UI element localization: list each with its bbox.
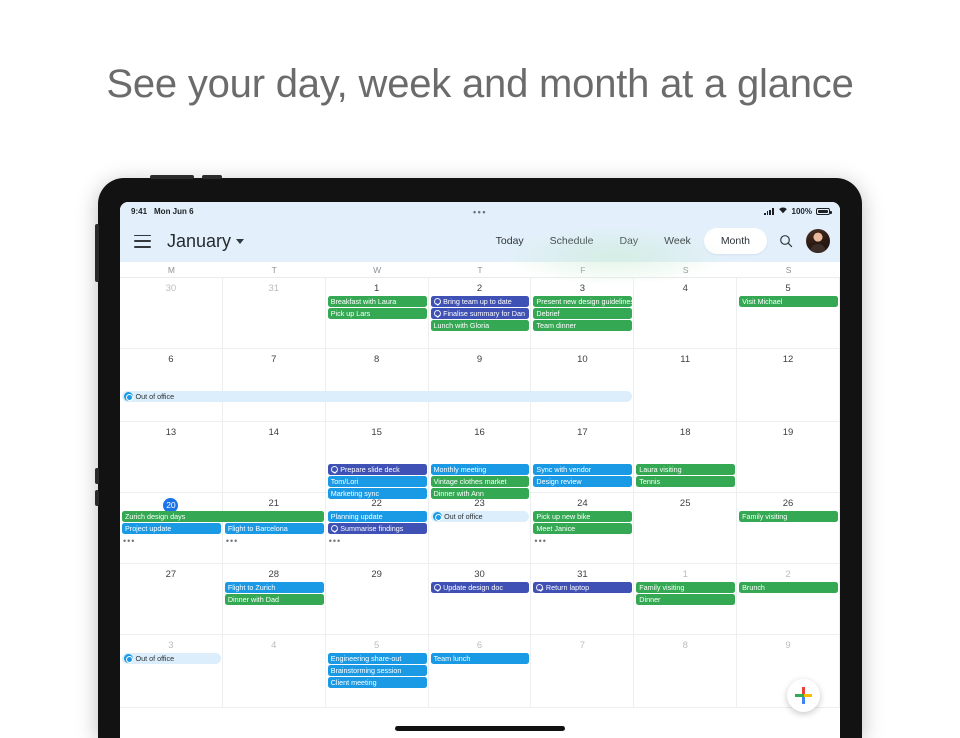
device-top-button <box>150 175 194 179</box>
event-title: Team lunch <box>434 653 471 664</box>
event-title: Brunch <box>742 582 765 593</box>
day-number: 4 <box>634 278 736 295</box>
search-icon[interactable] <box>773 228 799 254</box>
calendar-event[interactable]: Vintage clothes market <box>431 476 530 487</box>
month-title[interactable]: January <box>167 231 244 252</box>
calendar-event[interactable]: Flight to Barcelona <box>225 523 324 534</box>
calendar-day-cell[interactable]: 7 <box>223 349 326 421</box>
calendar-day-cell[interactable]: 30 <box>120 278 223 348</box>
event-title: Pick up new bike <box>536 511 590 522</box>
day-number: 7 <box>223 349 325 366</box>
calendar-day-cell[interactable]: 8 <box>326 349 429 421</box>
day-number: 24 <box>531 493 633 510</box>
day-number: 14 <box>223 422 325 439</box>
calendar-event[interactable]: Flight to Zurich <box>225 582 324 593</box>
view-switcher: TodayScheduleDayWeekMonth <box>483 228 767 254</box>
day-number: 3 <box>120 635 222 652</box>
calendar-day-cell[interactable]: 13 <box>120 422 223 492</box>
day-number: 1 <box>634 564 736 581</box>
task-check-icon <box>331 466 338 473</box>
battery-icon <box>816 208 830 215</box>
view-tab-day[interactable]: Day <box>606 229 651 253</box>
event-title: Visit Michael <box>742 296 782 307</box>
event-title: Out of office <box>444 511 483 522</box>
calendar-event[interactable]: Team dinner <box>533 320 632 331</box>
day-number: 9 <box>737 635 839 652</box>
calendar-event[interactable]: Brainstorming session <box>328 665 427 676</box>
calendar-event[interactable]: Out of office <box>122 653 221 664</box>
page-title: See your day, week and month at a glance <box>0 62 960 107</box>
view-tab-today[interactable]: Today <box>483 229 537 253</box>
calendar-event[interactable]: Project update <box>122 523 221 534</box>
event-title: Return laptop <box>546 582 589 593</box>
day-number: 28 <box>223 564 325 581</box>
calendar-event[interactable]: Out of office <box>431 511 530 522</box>
day-number: 11 <box>634 349 736 366</box>
plus-icon-horizontal <box>795 694 812 697</box>
event-title: Pick up Lars <box>331 308 371 319</box>
calendar-day-cell[interactable]: 5 <box>737 278 840 348</box>
calendar-event[interactable]: Client meeting <box>328 677 427 688</box>
day-number: 13 <box>120 422 222 439</box>
camera-dots-icon: ••• <box>473 207 487 217</box>
weekday-header-3: T <box>429 262 532 278</box>
event-title: Planning update <box>331 511 383 522</box>
battery-percent: 100% <box>792 207 812 216</box>
event-title: Bring team up to date <box>443 296 512 307</box>
calendar-event[interactable]: Prepare slide deck <box>328 464 427 475</box>
calendar-day-cell[interactable]: 25 <box>634 493 737 563</box>
event-title: Vintage clothes market <box>434 476 507 487</box>
calendar-day-cell[interactable]: 29 <box>326 564 429 634</box>
weekday-header-4: F <box>531 262 634 278</box>
event-title: Lunch with Gloria <box>434 320 490 331</box>
avatar[interactable] <box>806 229 830 253</box>
device-volume-button <box>95 224 99 282</box>
event-title: Monthly meeting <box>434 464 487 475</box>
event-title: Flight to Zurich <box>228 582 276 593</box>
day-number: 23 <box>429 493 531 510</box>
home-indicator <box>395 726 565 731</box>
day-number: 21 <box>223 493 325 510</box>
day-number: 5 <box>737 278 839 295</box>
day-number: 26 <box>737 493 839 510</box>
day-number: 6 <box>120 349 222 366</box>
calendar-day-cell[interactable]: 14 <box>223 422 326 492</box>
day-number: 27 <box>120 564 222 581</box>
calendar-event[interactable]: Monthly meeting <box>431 464 530 475</box>
calendar-day-cell[interactable]: 12 <box>737 349 840 421</box>
calendar-event[interactable]: Family visiting <box>739 511 838 522</box>
day-number: 31 <box>223 278 325 295</box>
calendar-event[interactable]: Out of office <box>122 391 632 402</box>
calendar-day-cell[interactable]: 4 <box>223 635 326 707</box>
event-title: Out of office <box>136 653 175 664</box>
task-check-icon <box>434 584 441 591</box>
calendar-event[interactable]: Team lunch <box>431 653 530 664</box>
calendar-event[interactable]: Design review <box>533 476 632 487</box>
wifi-icon <box>778 206 788 216</box>
event-title: Debrief <box>536 308 559 319</box>
event-title: Engineering share-out <box>331 653 402 664</box>
weekday-header-1: T <box>223 262 326 278</box>
calendar-event[interactable]: Debrief <box>533 308 632 319</box>
calendar-day-cell[interactable]: 26 <box>737 493 840 563</box>
out-of-office-icon <box>124 392 133 401</box>
event-title: Dinner with Dad <box>228 594 279 605</box>
event-title: Design review <box>536 476 581 487</box>
event-title: Out of office <box>136 391 175 402</box>
calendar-event[interactable]: Tennis <box>636 476 735 487</box>
calendar-event[interactable]: Engineering share-out <box>328 653 427 664</box>
weekday-header-2: W <box>326 262 429 278</box>
day-number: 7 <box>531 635 633 652</box>
event-title: Project update <box>125 523 171 534</box>
status-bar: 9:41 Mon Jun 6 ••• 100% <box>120 202 840 220</box>
day-number: 8 <box>326 349 428 366</box>
view-tab-schedule[interactable]: Schedule <box>537 229 607 253</box>
calendar-day-cell[interactable]: 30 <box>429 564 532 634</box>
status-date: Mon Jun 6 <box>154 207 194 216</box>
calendar-day-cell[interactable]: 10 <box>531 349 634 421</box>
calendar-day-cell[interactable]: 11 <box>634 349 737 421</box>
calendar-event[interactable]: Tom/Lori <box>328 476 427 487</box>
event-title: Family visiting <box>742 511 787 522</box>
view-tab-week[interactable]: Week <box>651 229 704 253</box>
task-check-icon <box>331 525 338 532</box>
calendar-day-cell[interactable]: 8 <box>634 635 737 707</box>
device-side-button-3 <box>95 490 99 506</box>
calendar-event[interactable]: Planning update <box>328 511 427 522</box>
task-check-icon <box>434 298 441 305</box>
calendar-day-cell[interactable]: 31 <box>531 564 634 634</box>
calendar-week-row: 13141516171819Prepare slide deckTom/Lori… <box>120 422 840 493</box>
day-number: 8 <box>634 635 736 652</box>
calendar-event[interactable]: Present new design guidelines <box>533 296 632 307</box>
day-number: 2 <box>429 278 531 295</box>
day-number: 5 <box>326 635 428 652</box>
weekday-header-5: S <box>634 262 737 278</box>
event-title: Team dinner <box>536 320 576 331</box>
day-number: 22 <box>326 493 428 510</box>
view-tab-month[interactable]: Month <box>704 228 767 254</box>
day-number: 3 <box>531 278 633 295</box>
calendar-event[interactable]: Return laptop <box>533 582 632 593</box>
weekday-header-0: M <box>120 262 223 278</box>
calendar-event[interactable]: Dinner with Dad <box>225 594 324 605</box>
calendar-event[interactable]: Laura visiting <box>636 464 735 475</box>
calendar-day-cell[interactable]: 6 <box>120 349 223 421</box>
day-number: 30 <box>120 278 222 295</box>
event-title: Laura visiting <box>639 464 681 475</box>
calendar-event[interactable]: Brunch <box>739 582 838 593</box>
calendar-weeks: 303112345Breakfast with LauraPick up Lar… <box>120 278 840 708</box>
weekday-header-row: MTWTFSS <box>120 262 840 278</box>
calendar-event[interactable]: Lunch with Gloria <box>431 320 530 331</box>
calendar-event[interactable]: Pick up Lars <box>328 308 427 319</box>
calendar-grid: MTWTFSS 303112345Breakfast with LauraPic… <box>120 262 840 708</box>
day-number: 12 <box>737 349 839 366</box>
event-title: Family visiting <box>639 582 684 593</box>
event-title: Sync with vendor <box>536 464 591 475</box>
day-number: 6 <box>429 635 531 652</box>
status-time: 9:41 <box>131 207 147 216</box>
event-title: Dinner <box>639 594 660 605</box>
out-of-office-icon <box>124 654 133 663</box>
calendar-event[interactable]: Visit Michael <box>739 296 838 307</box>
event-title: Client meeting <box>331 677 377 688</box>
day-number: 20 <box>120 493 222 513</box>
calendar-day-cell[interactable]: 7 <box>531 635 634 707</box>
event-title: Meet Janice <box>536 523 575 534</box>
event-title: Flight to Barcelona <box>228 523 288 534</box>
day-number: 9 <box>429 349 531 366</box>
day-number: 29 <box>326 564 428 581</box>
calendar-week-row: 3456789Out of officeEngineering share-ou… <box>120 635 840 708</box>
calendar-event[interactable]: Summarise findings <box>328 523 427 534</box>
tablet-screen: 9:41 Mon Jun 6 ••• 100% January TodaySch… <box>120 202 840 738</box>
calendar-event[interactable]: Breakfast with Laura <box>328 296 427 307</box>
calendar-day-cell[interactable]: 19 <box>737 422 840 492</box>
device-side-button-2 <box>95 468 99 484</box>
day-number: 18 <box>634 422 736 439</box>
event-title: Summarise findings <box>340 523 403 534</box>
app-toolbar: January TodayScheduleDayWeekMonth <box>120 220 840 262</box>
calendar-event[interactable]: Sync with vendor <box>533 464 632 475</box>
calendar-day-cell[interactable]: 31 <box>223 278 326 348</box>
day-number: 17 <box>531 422 633 439</box>
calendar-event[interactable]: Update design doc <box>431 582 530 593</box>
calendar-day-cell[interactable]: 4 <box>634 278 737 348</box>
out-of-office-icon <box>433 512 442 521</box>
day-number: 15 <box>326 422 428 439</box>
event-title: Present new design guidelines <box>536 296 632 307</box>
task-check-icon <box>536 584 543 591</box>
day-number: 4 <box>223 635 325 652</box>
day-number: 2 <box>737 564 839 581</box>
event-title: Finalise summary for Dan <box>443 308 525 319</box>
day-number: 16 <box>429 422 531 439</box>
calendar-day-cell[interactable]: 3 <box>120 635 223 707</box>
event-title: Prepare slide deck <box>340 464 400 475</box>
calendar-day-cell[interactable]: 6 <box>429 635 532 707</box>
calendar-event[interactable]: Bring team up to date <box>431 296 530 307</box>
event-title: Zurich design days <box>125 511 185 522</box>
event-title: Breakfast with Laura <box>331 296 397 307</box>
month-title-label: January <box>167 231 231 251</box>
weekday-header-6: S <box>737 262 840 278</box>
create-event-fab[interactable] <box>787 679 820 712</box>
task-check-icon <box>434 310 441 317</box>
calendar-day-cell[interactable]: 9 <box>429 349 532 421</box>
calendar-day-cell[interactable]: 2 <box>737 564 840 634</box>
calendar-event[interactable]: Zurich design days <box>122 511 324 522</box>
calendar-day-cell[interactable]: 23 <box>429 493 532 563</box>
day-number: 1 <box>326 278 428 295</box>
event-title: Brainstorming session <box>331 665 402 676</box>
chevron-down-icon <box>236 239 244 244</box>
calendar-event[interactable]: Family visiting <box>636 582 735 593</box>
calendar-event[interactable]: Dinner <box>636 594 735 605</box>
cellular-signal-icon <box>764 208 773 215</box>
day-number: 30 <box>429 564 531 581</box>
day-number: 10 <box>531 349 633 366</box>
calendar-event[interactable]: Meet Janice <box>533 523 632 534</box>
calendar-week-row: 6789101112Out of office <box>120 349 840 422</box>
event-title: Tennis <box>639 476 660 487</box>
device-top-button-2 <box>202 175 222 179</box>
calendar-event[interactable]: Finalise summary for Dan <box>431 308 530 319</box>
hamburger-icon[interactable] <box>134 235 151 248</box>
tablet-device-frame: 9:41 Mon Jun 6 ••• 100% January TodaySch… <box>98 178 862 738</box>
calendar-event[interactable]: Pick up new bike <box>533 511 632 522</box>
calendar-week-row: 303112345Breakfast with LauraPick up Lar… <box>120 278 840 349</box>
day-number: 19 <box>737 422 839 439</box>
calendar-week-row: 20212223242526Zurich design daysProject … <box>120 493 840 564</box>
calendar-day-cell[interactable]: 27 <box>120 564 223 634</box>
event-title: Update design doc <box>443 582 503 593</box>
calendar-week-row: 272829303112Flight to ZurichDinner with … <box>120 564 840 635</box>
day-number: 31 <box>531 564 633 581</box>
day-number: 25 <box>634 493 736 510</box>
event-title: Tom/Lori <box>331 476 359 487</box>
